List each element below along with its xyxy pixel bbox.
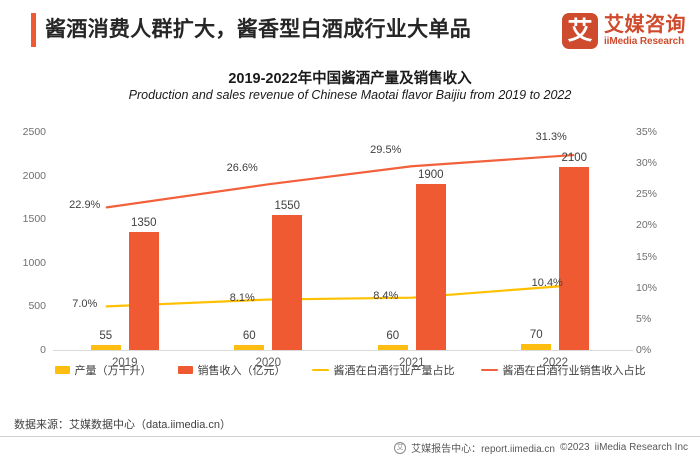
line-point-label: 31.3% [536, 131, 567, 143]
legend-item[interactable]: 酱酒在白酒行业销售收入占比 [481, 362, 646, 378]
chart-subtitle: Production and sales revenue of Chinese … [0, 88, 700, 102]
line-point-label: 8.1% [230, 292, 255, 304]
bar-production [234, 345, 264, 350]
legend-label: 产量（万千升） [75, 362, 152, 378]
y-axis-right-tick: 35% [636, 126, 700, 138]
bar-revenue [272, 215, 302, 350]
y-axis-right-tick: 0% [636, 344, 700, 356]
footer-badge-icon: 艾 [394, 442, 406, 454]
line-point-label: 29.5% [370, 144, 401, 156]
line-series-production-share [107, 285, 574, 306]
header-accent-bar [31, 13, 36, 47]
chart-legend: 产量（万千升）销售收入（亿元）酱酒在白酒行业产量占比酱酒在白酒行业销售收入占比 [0, 362, 700, 378]
chart-page: 酱酒消费人群扩大，酱香型白酒成行业大单品 艾 艾媒咨询 iiMedia Rese… [0, 0, 700, 455]
plot-canvas: 5560607013501550190021007.0%8.1%8.4%10.4… [53, 132, 627, 350]
y-axis-right-tick: 10% [636, 282, 700, 294]
y-axis-left-tick: 500 [0, 300, 46, 312]
chart-plot-area: 05001000150020002500 0%5%10%15%20%25%30%… [0, 110, 700, 355]
legend-item[interactable]: 产量（万千升） [55, 362, 152, 378]
bar-value-label: 1350 [131, 217, 157, 229]
footer-divider [0, 436, 700, 437]
y-axis-left-tick: 1500 [0, 213, 46, 225]
legend-line-swatch-icon [312, 369, 329, 372]
logo-text: 艾媒咨询 iiMedia Research [604, 15, 686, 48]
footer-company: iiMedia Research Inc [595, 442, 688, 453]
chart-title: 2019-2022年中国酱酒产量及销售收入 [0, 67, 700, 88]
bar-value-label: 55 [99, 330, 112, 342]
bar-value-label: 1550 [274, 200, 300, 212]
legend-line-swatch-icon [481, 369, 498, 372]
bar-revenue [129, 232, 159, 350]
y-axis-left-tick: 2500 [0, 126, 46, 138]
line-point-label: 7.0% [72, 298, 97, 310]
page-title: 酱酒消费人群扩大，酱香型白酒成行业大单品 [45, 13, 471, 47]
legend-bar-swatch-icon [178, 366, 193, 374]
logo-name-en: iiMedia Research [604, 36, 686, 48]
bar-value-label: 70 [530, 329, 543, 341]
y-axis-left-tick: 0 [0, 344, 46, 356]
legend-item[interactable]: 销售收入（亿元） [178, 362, 286, 378]
y-axis-right-tick: 5% [636, 313, 700, 325]
bar-value-label: 60 [243, 330, 256, 342]
y-axis-right-tick: 20% [636, 219, 700, 231]
bar-value-label: 1900 [418, 169, 444, 181]
line-point-label: 26.6% [227, 162, 258, 174]
bar-value-label: 60 [386, 330, 399, 342]
logo-name-cn: 艾媒咨询 [604, 15, 686, 36]
imedia-logo: 艾 艾媒咨询 iiMedia Research [562, 12, 686, 50]
footer-copyright: ©2023 [560, 442, 590, 453]
legend-label: 酱酒在白酒行业销售收入占比 [503, 362, 646, 378]
line-point-label: 8.4% [373, 290, 398, 302]
legend-label: 酱酒在白酒行业产量占比 [334, 362, 455, 378]
bar-production [91, 345, 121, 350]
x-axis-line [53, 350, 633, 351]
y-axis-right-tick: 15% [636, 251, 700, 263]
line-point-label: 10.4% [532, 277, 563, 289]
legend-bar-swatch-icon [55, 366, 70, 374]
bar-value-label: 2100 [561, 152, 587, 164]
y-axis-right-tick: 30% [636, 157, 700, 169]
line-point-label: 22.9% [69, 199, 100, 211]
bar-revenue [559, 167, 589, 350]
legend-item[interactable]: 酱酒在白酒行业产量占比 [312, 362, 455, 378]
footer-report-center: 艾媒报告中心：report.iimedia.cn [411, 440, 555, 455]
bar-production [521, 344, 551, 350]
page-header: 酱酒消费人群扩大，酱香型白酒成行业大单品 艾 艾媒咨询 iiMedia Rese… [0, 0, 700, 60]
y-axis-left-tick: 1000 [0, 257, 46, 269]
logo-mark-icon: 艾 [562, 13, 598, 49]
bar-production [378, 345, 408, 350]
line-series-revenue-share [107, 155, 574, 207]
bar-revenue [416, 184, 446, 350]
footer-report-info: 艾 艾媒报告中心：report.iimedia.cn ©2023 iiMedia… [394, 440, 688, 455]
legend-label: 销售收入（亿元） [198, 362, 286, 378]
footer-data-source: 数据来源：艾媒数据中心（data.iimedia.cn） [14, 416, 231, 432]
y-axis-left-tick: 2000 [0, 170, 46, 182]
y-axis-right-tick: 25% [636, 188, 700, 200]
